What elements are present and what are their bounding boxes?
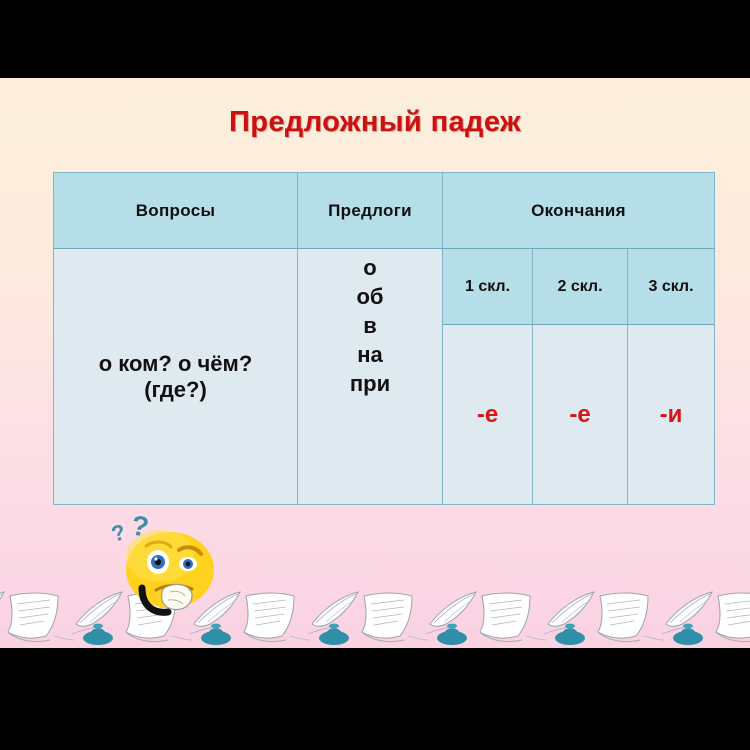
slide-stage: Предложный падеж Вопросы Предлоги Оконча…	[0, 0, 750, 750]
preposition-item: при	[298, 369, 442, 398]
declension-header-1-label: 1 скл.	[465, 278, 510, 296]
letterbox-top	[0, 0, 750, 78]
ending-cell-2: -е	[533, 325, 628, 504]
preposition-item: на	[298, 340, 442, 369]
page-title: Предложный падеж	[0, 106, 750, 139]
table-header-questions-label: Вопросы	[136, 201, 216, 221]
declension-header-2-label: 2 скл.	[557, 278, 602, 296]
declension-header-1: 1 скл.	[443, 249, 533, 325]
ending-value-1: -е	[477, 401, 498, 429]
ending-value-3: -и	[660, 401, 683, 429]
thinking-smiley-icon: ? ?	[108, 516, 220, 620]
preposition-item: в	[298, 311, 442, 340]
declension-header-3-label: 3 скл.	[648, 278, 693, 296]
questions-line-2: (где?)	[99, 377, 253, 403]
table-header-prepositions: Предлоги	[298, 173, 443, 249]
questions-cell: о ком? о чём? (где?)	[54, 249, 298, 504]
letterbox-bottom	[0, 648, 750, 750]
table-header-prepositions-label: Предлоги	[328, 201, 412, 221]
ending-value-2: -е	[569, 401, 590, 429]
ending-cell-1: -е	[443, 325, 533, 504]
table-header-questions: Вопросы	[54, 173, 298, 249]
declension-header-3: 3 скл.	[628, 249, 714, 325]
table-header-endings: Окончания	[443, 173, 714, 249]
preposition-item: об	[298, 282, 442, 311]
declension-header-2: 2 скл.	[533, 249, 628, 325]
preposition-item: о	[298, 253, 442, 282]
table-header-endings-label: Окончания	[531, 201, 626, 221]
slide-canvas: Предложный падеж Вопросы Предлоги Оконча…	[0, 78, 750, 648]
ending-cell-3: -и	[628, 325, 714, 504]
prepositions-cell: о об в на при	[298, 249, 443, 504]
case-table: Вопросы Предлоги Окончания о ком? о чём?…	[53, 172, 715, 505]
svg-text:?: ?	[108, 519, 128, 547]
questions-line-1: о ком? о чём?	[99, 351, 253, 377]
